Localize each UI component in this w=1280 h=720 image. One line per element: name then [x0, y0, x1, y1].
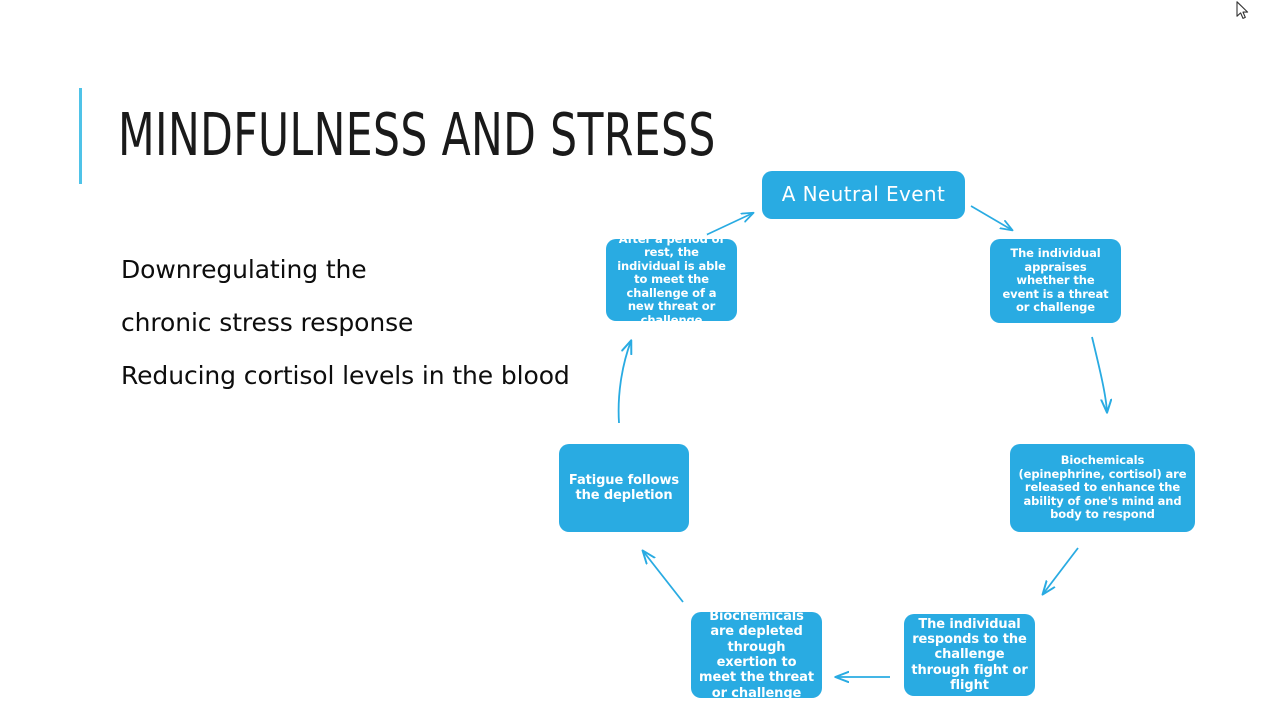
arrow-neutral-to-appraise	[971, 206, 1012, 230]
cycle-node-biochemicals-released[interactable]: Biochemicals (epinephrine, cortisol) are…	[1010, 444, 1195, 532]
cycle-node-fatigue[interactable]: Fatigue follows the depletion	[559, 444, 689, 532]
cycle-node-label: The individual responds to the challenge…	[911, 617, 1028, 694]
arrow-appraise-to-release	[1092, 337, 1107, 412]
arrow-fatigue-to-rest	[619, 341, 631, 423]
cycle-node-label: After a period of rest, the individual i…	[613, 233, 730, 328]
stress-cycle-diagram: A Neutral Event The individual appraises…	[0, 0, 1280, 720]
cycle-node-label: A Neutral Event	[782, 183, 946, 207]
cycle-node-fight-or-flight[interactable]: The individual responds to the challenge…	[904, 614, 1035, 696]
cycle-node-label: The individual appraises whether the eve…	[997, 247, 1114, 315]
cycle-node-label: Fatigue follows the depletion	[566, 473, 682, 504]
cycle-arrow-layer	[0, 0, 1280, 720]
mouse-pointer-icon	[1236, 1, 1250, 21]
slide-canvas: Mindfulness and Stress Downregulating th…	[0, 0, 1280, 720]
cycle-node-label: Biochemicals are depleted through exerti…	[698, 609, 815, 701]
cycle-node-after-rest[interactable]: After a period of rest, the individual i…	[606, 239, 737, 321]
arrow-release-to-respond	[1043, 548, 1078, 594]
arrow-deplete-to-fatigue	[643, 551, 683, 602]
cycle-node-neutral-event[interactable]: A Neutral Event	[762, 171, 965, 219]
cycle-node-appraise[interactable]: The individual appraises whether the eve…	[990, 239, 1121, 323]
cycle-node-label: Biochemicals (epinephrine, cortisol) are…	[1017, 454, 1188, 522]
cycle-node-biochemicals-depleted[interactable]: Biochemicals are depleted through exerti…	[691, 612, 822, 698]
